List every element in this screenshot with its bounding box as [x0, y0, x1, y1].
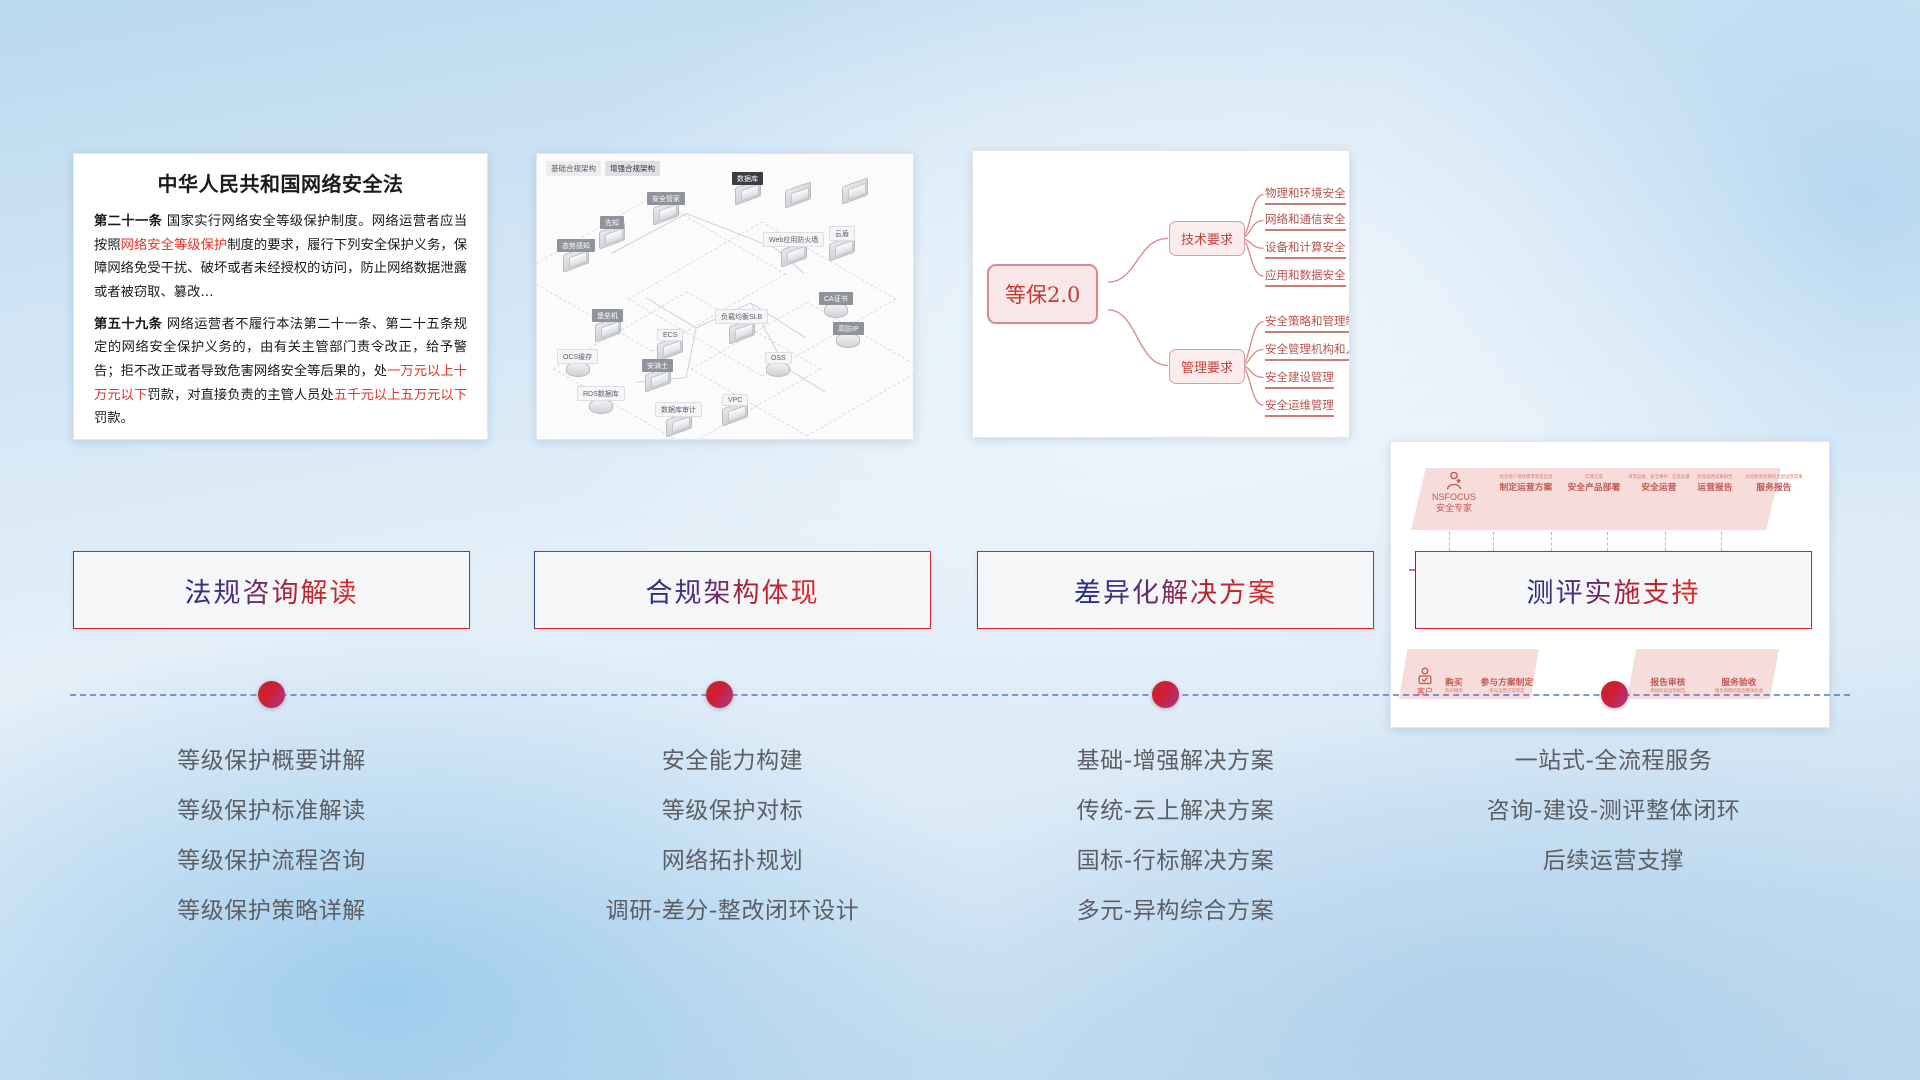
column-title-box-3[interactable]: 差异化解决方案: [977, 551, 1374, 629]
arch-node-ca-cert: CA证书: [819, 292, 853, 318]
mindmap-leaf[interactable]: 物理和环境安全: [1265, 185, 1346, 205]
list-item: 等级保护流程咨询: [73, 850, 470, 873]
arch-node-label: 安全管家: [647, 192, 685, 205]
storage-icon: [766, 362, 790, 377]
ops-expert-line-2: 安全专家: [1421, 503, 1487, 514]
arch-node-label: 堡垒机: [592, 309, 623, 322]
timeline-dot-1[interactable]: [258, 681, 285, 708]
ops-expert-persona: NSFOCUS 安全专家: [1421, 468, 1487, 514]
law-article-21-label: 第二十一条: [94, 214, 162, 229]
law-title: 中华人民共和国网络安全法: [94, 168, 467, 197]
timeline-dot-3[interactable]: [1152, 681, 1179, 708]
mobile-icon: [785, 181, 811, 208]
list-item: 安全能力构建: [534, 750, 931, 773]
desktop-icon: [842, 177, 868, 204]
arch-node-ocs: OCS缓存: [557, 349, 598, 377]
list-item: 等级保护概要讲解: [73, 750, 470, 773]
arch-node-label: Web应用防火墙: [763, 232, 824, 247]
arch-node-pc-entry: [842, 182, 868, 200]
law-article-59: 第五十九条 网络运营者不履行本法第二十一条、第二十五条规定的网络安全保护义务的，…: [94, 313, 467, 431]
list-item: 传统-云上解决方案: [977, 800, 1374, 823]
column-list-2: 安全能力构建 等级保护对标 网络拓扑规划 调研-差分-整改闭环设计: [534, 750, 931, 950]
arch-node-slb: 负载均衡SLB: [715, 309, 768, 340]
column-title-box-4[interactable]: 测评实施支持: [1415, 551, 1812, 629]
column-title: 差异化解决方案: [1074, 571, 1277, 610]
list-item: 网络拓扑规划: [534, 850, 931, 873]
ops-bottom-step: 报告审核 审核阶段运营报告: [1635, 676, 1701, 695]
arch-node-label: 高防IP: [833, 322, 864, 335]
arch-node-label: RDS数据库: [577, 386, 625, 401]
column-title: 测评实施支持: [1527, 571, 1701, 610]
column-list-4: 一站式-全流程服务 咨询-建设-测评整体闭环 后续运营支撑: [1415, 750, 1812, 900]
arch-node-label: 负载均衡SLB: [715, 309, 768, 324]
mindmap-branch-label: 技术要求: [1181, 233, 1233, 248]
mindmap-leaf[interactable]: 网络和通信安全: [1265, 211, 1346, 231]
mindmap-leaf[interactable]: 安全建设管理: [1265, 369, 1334, 389]
arch-node-oss: OSS: [765, 352, 792, 377]
ops-step-detail: 总结服务周期内全部运营成果: [1721, 474, 1827, 480]
shield-icon: [836, 333, 860, 348]
ops-step-title: 服务报告: [1721, 481, 1827, 493]
arch-node-anti-ddos-ip: 高防IP: [833, 322, 864, 348]
customer-avatar-icon: [1415, 666, 1435, 686]
mindmap-leaf[interactable]: 应用和数据安全: [1265, 267, 1346, 287]
card-architecture-diagram: 基础合规架构 增强合规架构 态势感知: [536, 153, 914, 440]
list-item: 后续运营支撑: [1415, 850, 1812, 873]
arch-tab-enhanced[interactable]: 增强合规架构: [605, 161, 660, 176]
architecture-tabs: 基础合规架构 增强合规架构: [546, 161, 660, 176]
arch-node-label: OCS缓存: [557, 349, 598, 364]
law-article-59-label: 第五十九条: [94, 317, 162, 332]
ops-step-title: 报告审核: [1635, 676, 1701, 688]
mindmap-leaf[interactable]: 设备和计算安全: [1265, 239, 1346, 259]
ops-bottom-step: 参与方案制定 参与运营方案制定: [1469, 676, 1545, 695]
list-item: 等级保护策略详解: [73, 900, 470, 923]
column-title: 法规咨询解读: [185, 571, 359, 610]
timeline-dot-2[interactable]: [706, 681, 733, 708]
arch-node-label: 数据库审计: [655, 402, 702, 417]
slide-canvas: 中华人民共和国网络安全法 第二十一条 国家实行网络安全等级保护制度。网络运营者应…: [0, 0, 1920, 1080]
law-article-59-highlight-2: 五千元以上五万元以下: [334, 388, 467, 403]
card-law-text: 中华人民共和国网络安全法 第二十一条 国家实行网络安全等级保护制度。网络运营者应…: [73, 153, 488, 440]
arch-node-mobile-entry: [785, 186, 811, 204]
column-title: 合规架构体现: [646, 571, 820, 610]
arch-node-cloud-shield: 云盾: [829, 226, 855, 257]
arch-node-situational-awareness: 态势感知: [557, 239, 595, 268]
ops-expert-line-1: NSFOCUS: [1421, 492, 1487, 503]
timeline-dashed-axis: [70, 694, 1850, 696]
arch-node-label: OSS: [765, 352, 792, 364]
column-list-1: 等级保护概要讲解 等级保护标准解读 等级保护流程咨询 等级保护策略详解: [73, 750, 470, 950]
mindmap-root-node[interactable]: 等保2.0: [987, 264, 1098, 324]
law-article-21-highlight: 网络安全等级保护: [121, 238, 228, 253]
certificate-icon: [824, 303, 848, 318]
column-list-3: 基础-增强解决方案 传统-云上解决方案 国标-行标解决方案 多元-异构综合方案: [977, 750, 1374, 950]
arch-node-vpc: VPC: [722, 394, 748, 422]
list-item: 咨询-建设-测评整体闭环: [1415, 800, 1812, 823]
list-item: 国标-行标解决方案: [977, 850, 1374, 873]
arch-node-ecs: ECS: [657, 329, 683, 357]
list-item: 等级保护对标: [534, 800, 931, 823]
ops-bottom-step: 服务验收 服务周期结束后整体验收: [1703, 676, 1775, 695]
cache-icon: [566, 362, 590, 377]
card-mindmap: 等保2.0 技术要求 管理要求 物理和环境安全 网络和通信安全 设备和计算安全 …: [972, 150, 1350, 438]
timeline-dot-4[interactable]: [1601, 681, 1628, 708]
arch-node-label: 先知: [600, 216, 624, 229]
arch-node-label: 安骑士: [642, 359, 673, 372]
list-item: 多元-异构综合方案: [977, 900, 1374, 923]
arch-node-label: ECS: [657, 329, 683, 341]
arch-node-label: 数据库: [732, 172, 763, 185]
mindmap-leaf[interactable]: 安全运维管理: [1265, 397, 1334, 417]
database-icon: [589, 399, 613, 414]
arch-node-rds: RDS数据库: [577, 386, 625, 414]
arch-tab-basic[interactable]: 基础合规架构: [546, 161, 601, 176]
arch-node-database: 数据库: [732, 172, 763, 201]
arch-node-xianzhi: 先知: [599, 216, 625, 245]
column-title-box-1[interactable]: 法规咨询解读: [73, 551, 470, 629]
law-article-59-text-c: 罚款。: [94, 411, 134, 426]
arch-node-label: 态势感知: [557, 239, 595, 252]
mindmap-branch-technical[interactable]: 技术要求: [1169, 221, 1245, 256]
mindmap-branch-label: 管理要求: [1181, 361, 1233, 376]
ops-step-title: 参与方案制定: [1469, 676, 1545, 688]
ops-top-step: 总结服务周期内全部运营成果 服务报告: [1721, 474, 1827, 493]
arch-node-label: 云盾: [829, 226, 855, 241]
arch-node-bastion-host: 堡垒机: [592, 309, 623, 338]
arch-node-security-butler: 安全管家: [647, 192, 685, 221]
arch-node-label: CA证书: [819, 292, 853, 305]
ops-step-title: 服务验收: [1703, 676, 1775, 688]
list-item: 基础-增强解决方案: [977, 750, 1374, 773]
law-article-21: 第二十一条 国家实行网络安全等级保护制度。网络运营者应当按照网络安全等级保护制度…: [94, 210, 467, 305]
law-article-59-text-b: 罚款，对直接负责的主管人员处: [147, 388, 334, 403]
mindmap-branch-management[interactable]: 管理要求: [1169, 349, 1245, 384]
list-item: 一站式-全流程服务: [1415, 750, 1812, 773]
arch-node-anqishi: 安骑士: [642, 359, 673, 388]
arch-node-db-audit: 数据库审计: [655, 402, 702, 433]
expert-avatar-icon: [1443, 470, 1465, 492]
list-item: 调研-差分-整改闭环设计: [534, 900, 931, 923]
mindmap-leaf[interactable]: 安全管理机构和人员: [1265, 341, 1350, 361]
arch-node-waf: Web应用防火墙: [763, 232, 824, 263]
column-title-box-2[interactable]: 合规架构体现: [534, 551, 931, 629]
list-item: 等级保护标准解读: [73, 800, 470, 823]
mindmap-leaf[interactable]: 安全策略和管理制度: [1265, 313, 1350, 333]
arch-node-label: VPC: [722, 394, 748, 406]
